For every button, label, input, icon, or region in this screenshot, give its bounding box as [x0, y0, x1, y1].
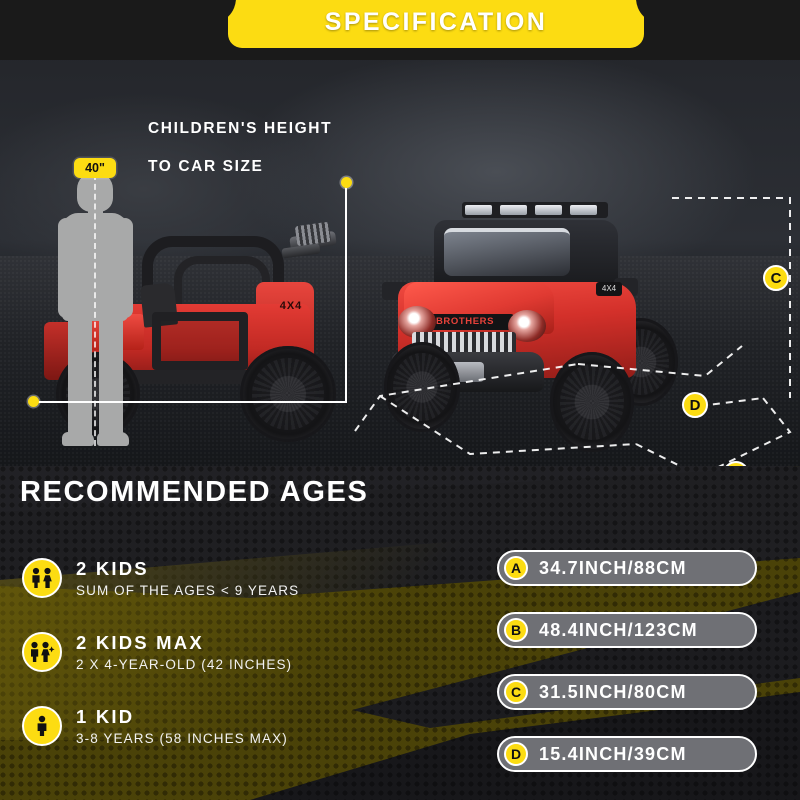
callout-path-a-right [578, 346, 742, 376]
page-title: SPECIFICATION [228, 8, 644, 37]
dimension-pill-d: D 15.4INCH/39CM [497, 736, 757, 772]
header-notch-left [0, 0, 236, 24]
dimension-value-d: 15.4INCH/39CM [539, 744, 687, 765]
dimension-callout-lines [0, 46, 800, 466]
dimension-value-a: 34.7INCH/88CM [539, 558, 687, 579]
age-text-2: 2 KIDS MAX 2 X 4-YEAR-OLD (42 INCHES) [76, 632, 292, 671]
dimension-pill-a: A 34.7INCH/88CM [497, 550, 757, 586]
age-row-3: 1 KID 3-8 YEARS (58 INCHES MAX) [22, 706, 288, 746]
marker-c: C [763, 265, 789, 291]
age-title-2: 2 KIDS MAX [76, 632, 292, 653]
age-subtitle-2: 2 X 4-YEAR-OLD (42 INCHES) [76, 657, 292, 672]
dimension-value-b: 48.4INCH/123CM [539, 620, 698, 641]
callout-path-d [700, 398, 763, 406]
product-photo-panel: CHILDREN'S HEIGHT TO CAR SIZE 40" 4 [0, 46, 800, 466]
two-kids-plus-icon [22, 632, 62, 672]
age-text-1: 2 KIDS SUM OF THE AGES < 9 YEARS [76, 558, 299, 597]
age-text-3: 1 KID 3-8 YEARS (58 INCHES MAX) [76, 706, 288, 745]
age-subtitle-1: SUM OF THE AGES < 9 YEARS [76, 583, 299, 598]
age-subtitle-3: 3-8 YEARS (58 INCHES MAX) [76, 731, 288, 746]
one-kid-glyph [34, 715, 50, 737]
dimension-badge-c: C [504, 680, 528, 704]
callout-path-b [636, 398, 790, 466]
two-kids-icon [22, 558, 62, 598]
dimension-badge-a: A [504, 556, 528, 580]
age-row-1: 2 KIDS SUM OF THE AGES < 9 YEARS [22, 558, 299, 598]
dimension-pill-c: C 31.5INCH/80CM [497, 674, 757, 710]
dimension-badge-b: B [504, 618, 528, 642]
callout-path-c [672, 198, 790, 398]
callout-path-a-left [355, 364, 578, 431]
header-banner: SPECIFICATION [0, 0, 800, 60]
marker-d: D [682, 392, 708, 418]
age-title-1: 2 KIDS [76, 558, 299, 579]
one-kid-icon [22, 706, 62, 746]
dimension-pill-b: B 48.4INCH/123CM [497, 612, 757, 648]
ages-section-title: RECOMMENDED AGES [20, 476, 368, 509]
specification-infographic: SPECIFICATION CHILDREN'S HEIGHT TO CAR S… [0, 0, 800, 800]
recommended-ages-section: RECOMMENDED AGES 2 KIDS SUM OF THE AGES … [0, 466, 800, 800]
age-row-2: 2 KIDS MAX 2 X 4-YEAR-OLD (42 INCHES) [22, 632, 292, 672]
two-kids-glyph [29, 567, 55, 589]
dimension-value-c: 31.5INCH/80CM [539, 682, 687, 703]
age-title-3: 1 KID [76, 706, 288, 727]
dimension-badge-d: D [504, 742, 528, 766]
callout-path-front-edge [380, 396, 636, 454]
two-kids-plus-glyph [28, 641, 56, 663]
header-notch-right [636, 0, 800, 24]
